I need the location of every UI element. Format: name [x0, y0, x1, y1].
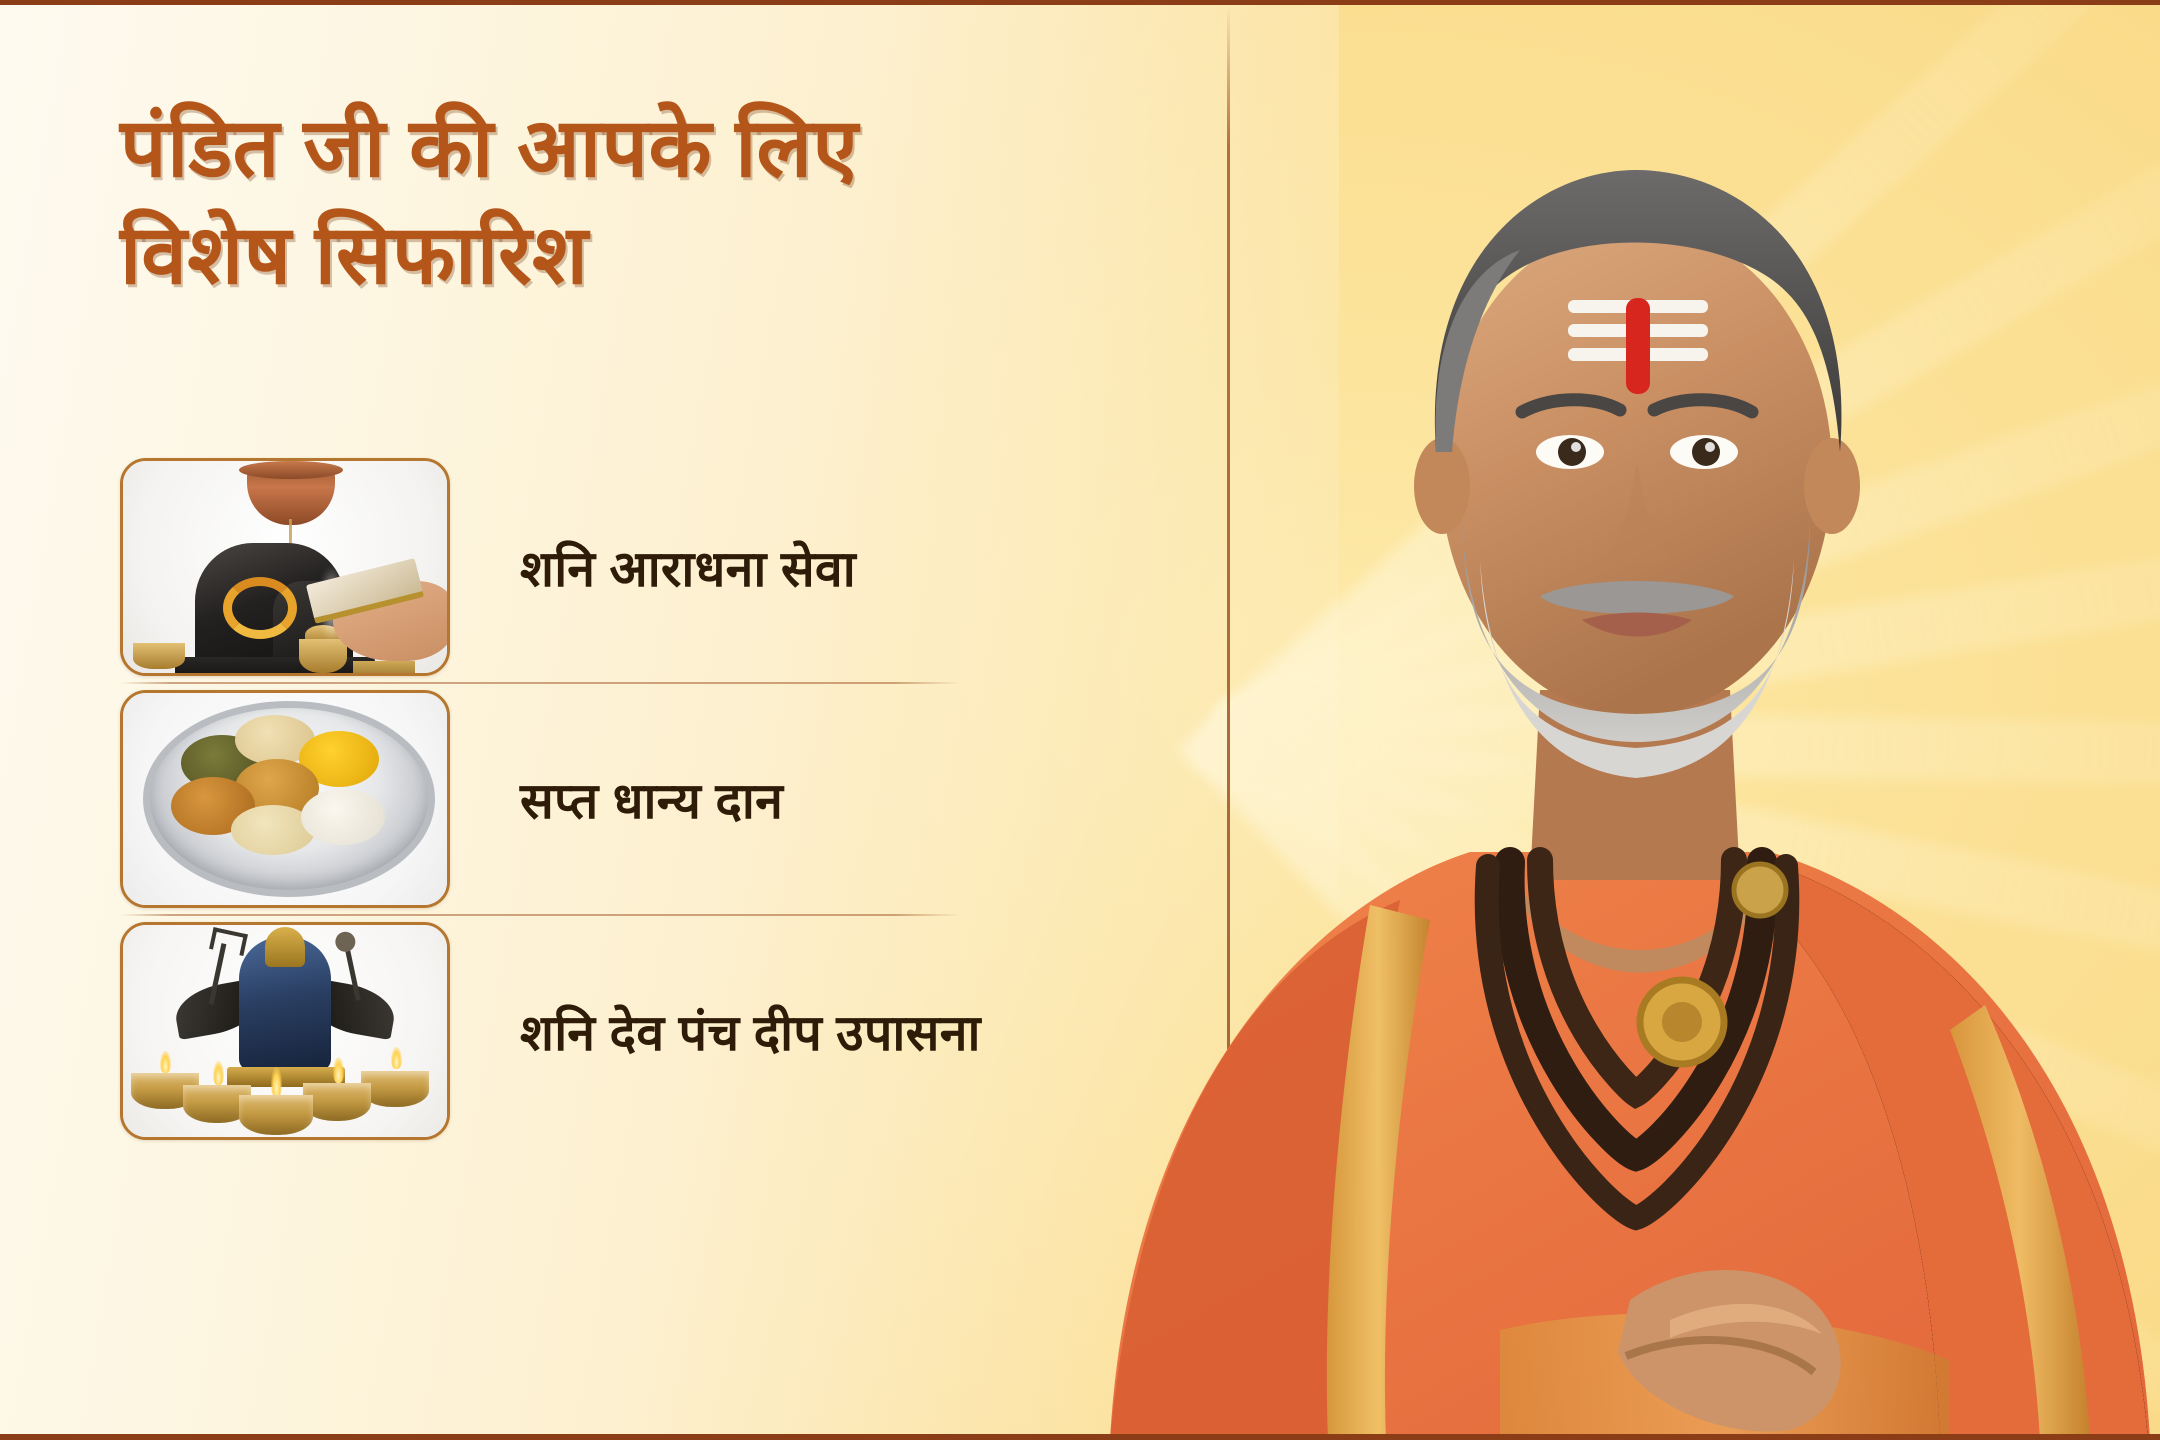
page-title: पंडित जी की आपके लिए विशेष सिफारिश — [120, 96, 1180, 309]
title-line-2: विशेष सिफारिश — [120, 203, 1180, 310]
brass-lamp — [133, 643, 185, 669]
list-item-label: सप्त धान्य दान — [520, 765, 783, 833]
wooden-plank — [140, 675, 393, 676]
list-item[interactable]: सप्त धान्य दान — [120, 684, 960, 914]
grain-heap — [301, 789, 385, 845]
diya-flame — [160, 1051, 171, 1073]
brass-plate — [353, 661, 415, 676]
sapt-dhanya-thali-photo — [120, 690, 450, 908]
pandit-ji-portrait — [1070, 0, 2160, 1440]
diya-flame — [271, 1067, 282, 1097]
shani-panch-deep-photo — [120, 922, 450, 1140]
diya-lamp — [303, 1083, 371, 1121]
content-panel: पंडित जी की आपके लिए विशेष सिफारिश — [0, 0, 1230, 1440]
shani-abhishek-photo — [120, 458, 450, 676]
list-item-label: शनि देव पंच दीप उपासना — [520, 997, 981, 1065]
recommendation-list: शनि आराधना सेवा सप्त धान्य दान — [120, 452, 960, 1146]
diya-lamp — [361, 1071, 429, 1107]
bottom-border-rule — [0, 1434, 2160, 1440]
diya-flame — [213, 1061, 224, 1085]
list-item[interactable]: शनि देव पंच दीप उपासना — [120, 916, 960, 1146]
title-line-1: पंडित जी की आपके लिए — [120, 96, 1180, 203]
diya-flame — [391, 1047, 402, 1069]
list-item[interactable]: शनि आराधना सेवा — [120, 452, 960, 682]
top-border-rule — [0, 0, 2160, 5]
crown-icon — [265, 927, 305, 967]
copper-pot-icon — [247, 467, 335, 525]
list-item-label: शनि आराधना सेवा — [520, 533, 856, 601]
incense-holder — [299, 639, 347, 673]
diya-flame — [333, 1057, 344, 1083]
diya-lamp — [239, 1095, 313, 1135]
marigold-garland — [223, 577, 297, 639]
